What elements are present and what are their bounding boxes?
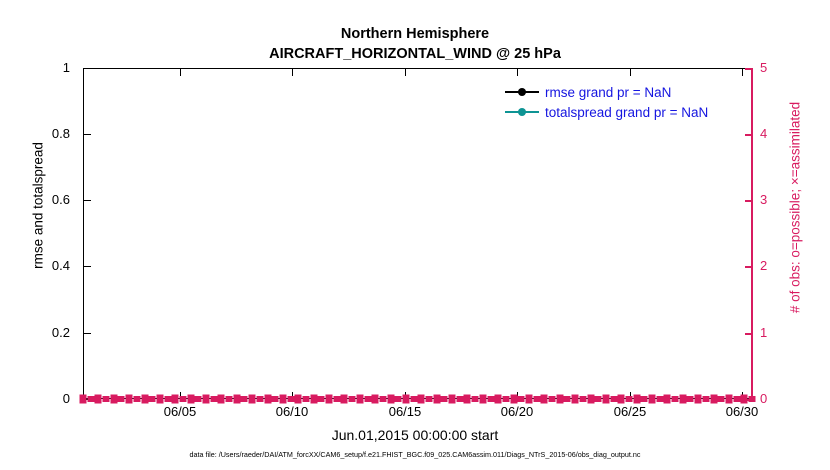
y-left-tick-label: 0.6: [52, 192, 70, 207]
figure-canvas: Northern Hemisphere AIRCRAFT_HORIZONTAL_…: [0, 0, 830, 470]
x-tick: [630, 392, 631, 399]
legend-label-rmse: rmse grand pr = NaN: [545, 85, 671, 100]
x-tick-label: 06/25: [614, 404, 647, 419]
data-file-note: data file: /Users/raeder/DAI/ATM_forcXX/…: [0, 450, 830, 459]
y-left-tick-label: 0.2: [52, 325, 70, 340]
chart-legend: rmse grand pr = NaN totalspread grand pr…: [503, 80, 710, 124]
y-left-tick: [84, 68, 91, 69]
x-tick: [292, 392, 293, 399]
x-tick-top: [292, 69, 293, 76]
x-tick-top: [517, 69, 518, 76]
chart-title: Northern Hemisphere: [0, 24, 830, 44]
y-left-tick: [84, 266, 91, 267]
y-left-tick-label: 1: [63, 60, 70, 75]
y-left-tick: [84, 399, 91, 400]
x-tick: [517, 392, 518, 399]
y-left-tick: [84, 134, 91, 135]
x-tick: [405, 392, 406, 399]
y-right-tick-label: 1: [760, 325, 767, 340]
legend-item-totalspread: totalspread grand pr = NaN: [505, 102, 708, 122]
x-tick-label: 06/10: [276, 404, 309, 419]
x-tick: [742, 392, 743, 399]
y-left-tick: [84, 333, 91, 334]
y-right-tick: [745, 68, 752, 70]
y-right-tick-label: 2: [760, 258, 767, 273]
chart-subtitle: AIRCRAFT_HORIZONTAL_WIND @ 25 hPa: [0, 44, 830, 64]
y-right-tick: [745, 266, 752, 268]
y-axis-right-title: # of obs: o=possible; ×=assimilated: [788, 43, 803, 373]
x-tick-label: 06/05: [164, 404, 197, 419]
legend-marker-dot-icon: [518, 88, 526, 96]
totalspread-line-swatch-icon: [505, 106, 539, 118]
x-tick-label: 06/30: [726, 404, 759, 419]
y-right-tick-label: 5: [760, 60, 767, 75]
x-tick-top: [405, 69, 406, 76]
legend-marker-dot-icon: [518, 108, 526, 116]
y-left-tick: [84, 200, 91, 201]
chart-title-block: Northern Hemisphere AIRCRAFT_HORIZONTAL_…: [0, 24, 830, 64]
y-right-tick: [745, 200, 752, 202]
y-right-tick-label: 4: [760, 126, 767, 141]
x-tick-label: 06/15: [389, 404, 422, 419]
y-right-tick-label: 0: [760, 391, 767, 406]
y-axis-left-title: rmse and totalspread: [31, 56, 46, 356]
legend-label-totalspread: totalspread grand pr = NaN: [545, 105, 708, 120]
x-tick-top: [630, 69, 631, 76]
x-tick: [180, 392, 181, 399]
x-tick-top: [180, 69, 181, 76]
right-axis-spine: [751, 68, 753, 400]
y-left-tick-label: 0.4: [52, 258, 70, 273]
rmse-line-swatch-icon: [505, 86, 539, 98]
y-right-tick-label: 3: [760, 192, 767, 207]
y-right-tick: [745, 333, 752, 335]
y-left-tick-label: 0: [63, 391, 70, 406]
legend-item-rmse: rmse grand pr = NaN: [505, 82, 708, 102]
x-axis-title: Jun.01,2015 00:00:00 start: [0, 427, 830, 443]
x-tick-top: [742, 69, 743, 76]
y-left-tick-label: 0.8: [52, 126, 70, 141]
y-right-tick: [745, 399, 752, 401]
x-tick-label: 06/20: [501, 404, 534, 419]
y-right-tick: [745, 134, 752, 136]
